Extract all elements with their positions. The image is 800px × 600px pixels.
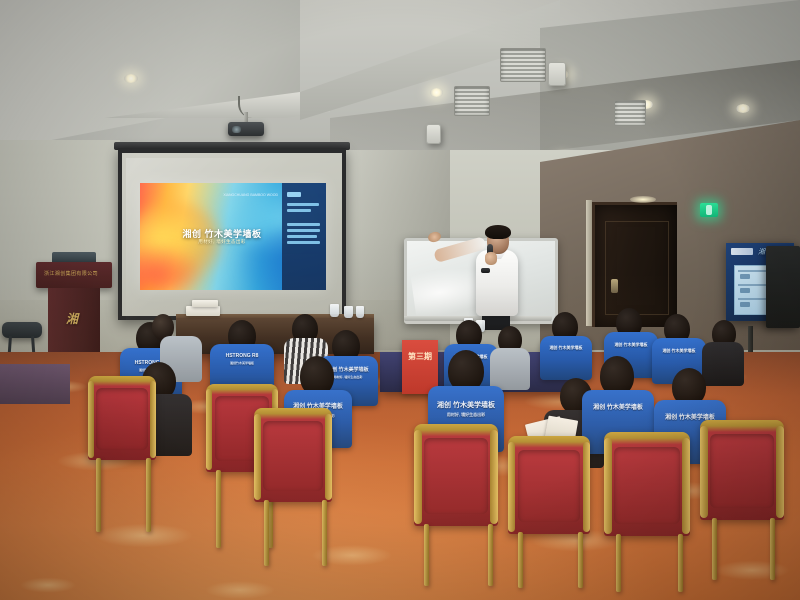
paper-stack [186, 306, 220, 316]
downlight-icon [736, 104, 750, 113]
banquet-chair[interactable] [414, 424, 498, 526]
air-vent [614, 100, 646, 126]
downlight-icon [430, 88, 443, 97]
projection-screen: XIANGCHUANG BAMBOO WOOD 湘创 竹木美学墙板 用材好, 墙… [118, 148, 346, 320]
ceiling-speaker [548, 62, 566, 86]
banner-sign-sheet [734, 265, 770, 315]
room-door[interactable] [592, 202, 677, 327]
side-table-cloth [0, 364, 70, 404]
presenter-hair [485, 225, 511, 239]
table-number-card: 第三期 [402, 340, 438, 394]
air-vent [454, 86, 490, 116]
door-handle[interactable] [611, 279, 618, 293]
exit-sign-icon [700, 203, 718, 217]
banquet-chair[interactable] [254, 408, 332, 502]
vest-brand-text: 湘创 竹木美学墙板 [582, 405, 654, 412]
chair-leg [488, 524, 493, 586]
water-cup [344, 306, 353, 318]
chair-leg [770, 518, 775, 580]
ceiling-projector [228, 122, 264, 136]
podium-logo: 湘 [66, 310, 78, 327]
chair-leg [322, 500, 327, 566]
projector-lens-icon [232, 126, 241, 133]
wall-light-glow [630, 196, 656, 203]
banquet-chair[interactable] [88, 376, 156, 460]
exit-running-man-icon [706, 205, 712, 215]
vest-brand-text: 湘创 竹木美学墙板 [604, 343, 658, 348]
air-vent [500, 48, 546, 82]
banquet-chair[interactable] [508, 436, 590, 534]
chair-leg [616, 534, 621, 592]
presenter-wristwatch [481, 268, 490, 273]
chair-leg [264, 500, 269, 566]
chair-leg [578, 532, 583, 588]
chair-leg [216, 470, 221, 548]
presenter-mic-hand [485, 252, 497, 265]
vest-brand-text: HSTRONG R8 [210, 354, 274, 360]
meeting-room-photo: XIANGCHUANG BAMBOO WOOD 湘创 竹木美学墙板 用材好, 墙… [0, 0, 800, 600]
banner-logo-icon [731, 248, 753, 255]
attendee-shirt [702, 342, 744, 386]
downlight-icon [124, 74, 138, 83]
paper-stack [192, 300, 218, 307]
chair-leg [518, 532, 523, 588]
screen-surface: XIANGCHUANG BAMBOO WOOD 湘创 竹木美学墙板 用材好, 墙… [122, 153, 342, 316]
banquet-chair[interactable] [604, 432, 690, 536]
attendee-vest: 湘创 竹木美学墙板 [540, 336, 592, 380]
vest-brand-text: 湘创 竹木美学墙板 [428, 402, 504, 410]
table-number-text: 第三期 [408, 352, 432, 362]
water-cup [356, 306, 364, 318]
pa-speaker [766, 246, 800, 328]
chair-leg [678, 534, 683, 592]
attendee-shirt [490, 348, 530, 390]
door-panel [605, 221, 669, 315]
vest-brand-text: 湘创 竹木美学墙板 [652, 349, 706, 354]
screen-glare [126, 158, 346, 321]
podium-top: 浙江湘创集团有限公司 [36, 262, 112, 288]
banquet-chair[interactable] [700, 420, 784, 520]
vest-brand-text: 湘创 竹木美学墙板 [540, 346, 592, 351]
water-cup [330, 304, 339, 317]
vest-sub-text: 用材好, 墙好生态出彩 [428, 413, 504, 418]
vest-sub-text: 湘创竹木美学墙板 [210, 362, 274, 365]
chair-leg [96, 458, 101, 532]
presenter-body [476, 250, 518, 316]
ceiling-speaker [426, 124, 441, 144]
chair-leg [424, 524, 429, 586]
chair-leg [712, 518, 717, 580]
podium-header-text: 浙江湘创集团有限公司 [44, 270, 98, 277]
chair-leg [146, 458, 151, 532]
